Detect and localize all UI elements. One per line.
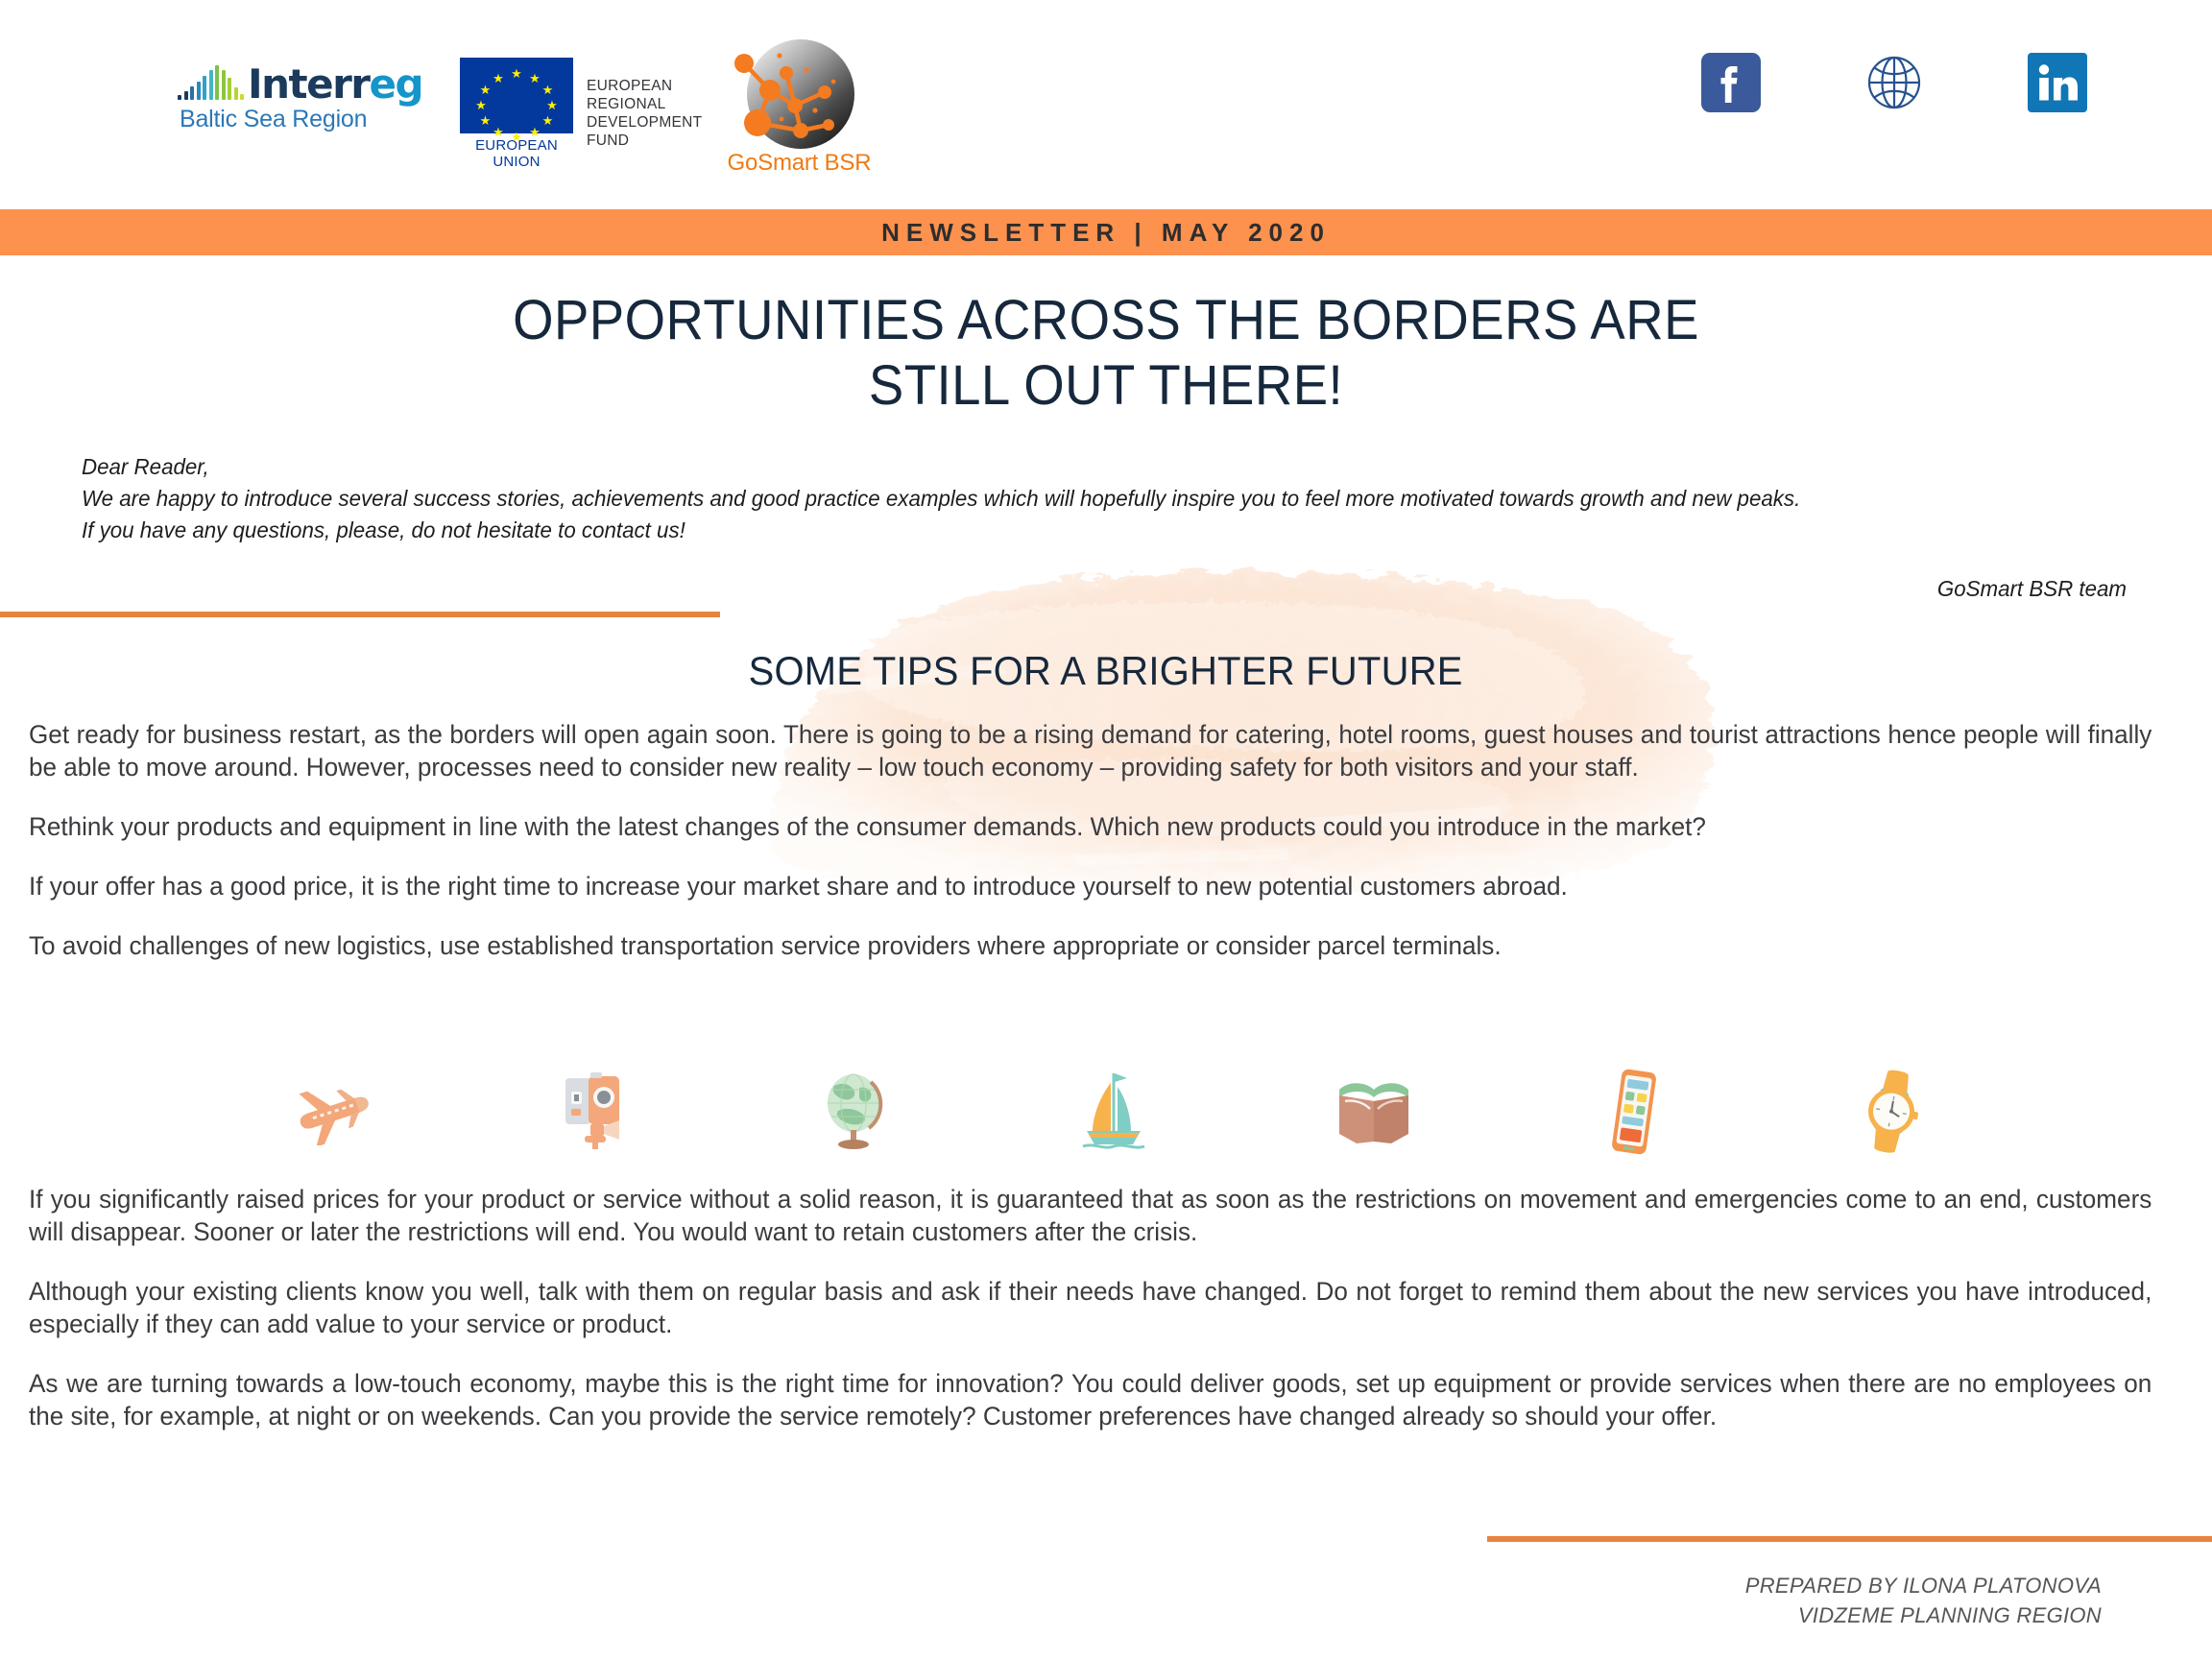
interreg-wordmark: Interreg: [248, 65, 422, 104]
eu-logo: ★ ★ ★ ★ ★ ★ ★ ★ ★ ★ ★ ★ EUROPEAN UNION: [460, 36, 702, 170]
erdf-line-1: EUROPEAN: [587, 77, 702, 95]
footer-prepared-by: PREPARED BY ILONA PLATONOVA: [1745, 1571, 2102, 1600]
facebook-icon[interactable]: [1701, 53, 1761, 112]
banner-text: NEWSLETTER | MAY 2020: [881, 218, 1331, 248]
page-title-line-2: STILL OUT THERE!: [66, 353, 2146, 419]
newsletter-page: Interreg Baltic Sea Region ★ ★ ★ ★ ★ ★ ★…: [0, 0, 2212, 1659]
newsletter-banner: NEWSLETTER | MAY 2020: [0, 209, 2212, 255]
social-links: [1701, 53, 2087, 112]
sailboat-icon: [1068, 1066, 1159, 1157]
section-heading-text: SOME TIPS FOR A BRIGHTER FUTURE: [749, 648, 1463, 694]
body-block-bottom: If you significantly raised prices for y…: [29, 1183, 2184, 1459]
intro-paragraph: We are happy to introduce several succes…: [82, 483, 2065, 515]
open-map-icon: [1328, 1066, 1419, 1157]
section-heading: SOME TIPS FOR A BRIGHTER FUTURE: [0, 648, 2212, 694]
divider-left: [0, 612, 720, 617]
intro-salutation: Dear Reader,: [82, 451, 2065, 483]
footer-organisation: VIDZEME PLANNING REGION: [1745, 1600, 2102, 1630]
divider-right: [1487, 1536, 2212, 1542]
erdf-text: EUROPEAN REGIONAL DEVELOPMENT FUND: [587, 58, 702, 150]
body-paragraph: Although your existing clients know you …: [29, 1275, 2152, 1340]
body-paragraph: To avoid challenges of new logistics, us…: [29, 929, 2152, 962]
wristwatch-icon: [1848, 1066, 1939, 1157]
page-footer: PREPARED BY ILONA PLATONOVA VIDZEME PLAN…: [1745, 1571, 2102, 1630]
gosmart-logo: GoSmart BSR: [727, 36, 871, 177]
erdf-line-4: FUND: [587, 132, 702, 150]
action-camera-icon: [548, 1066, 639, 1157]
body-paragraph: If your offer has a good price, it is th…: [29, 870, 2152, 902]
logo-group: Interreg Baltic Sea Region ★ ★ ★ ★ ★ ★ ★…: [178, 36, 871, 177]
page-header: Interreg Baltic Sea Region ★ ★ ★ ★ ★ ★ ★…: [0, 0, 2212, 206]
body-paragraph: If you significantly raised prices for y…: [29, 1183, 2152, 1248]
gosmart-label: GoSmart BSR: [727, 150, 871, 177]
erdf-line-3: DEVELOPMENT: [587, 113, 702, 132]
linkedin-icon[interactable]: [2028, 53, 2087, 112]
page-title-line-1: OPPORTUNITIES ACROSS THE BORDERS ARE: [66, 288, 2146, 353]
interreg-bars-icon: [178, 65, 244, 104]
mobile-phone-icon: [1588, 1066, 1679, 1157]
globe-stand-icon: [808, 1066, 900, 1157]
airplane-icon: [288, 1066, 379, 1157]
body-paragraph: As we are turning towards a low-touch ec…: [29, 1367, 2152, 1432]
body-block-top: Get ready for business restart, as the b…: [29, 718, 2184, 962]
interreg-logo: Interreg Baltic Sea Region: [178, 36, 418, 133]
body-paragraph: Get ready for business restart, as the b…: [29, 718, 2152, 783]
eu-flag-icon: ★ ★ ★ ★ ★ ★ ★ ★ ★ ★ ★ ★: [460, 58, 573, 133]
interreg-subtitle: Baltic Sea Region: [178, 106, 418, 133]
erdf-line-2: REGIONAL: [587, 95, 702, 113]
gosmart-sphere-icon: [732, 38, 866, 154]
intro-block: Dear Reader, We are happy to introduce s…: [82, 451, 2127, 605]
decorative-icon-row: [288, 1066, 1939, 1157]
globe-icon[interactable]: [1864, 53, 1924, 112]
intro-closing: If you have any questions, please, do no…: [82, 515, 2065, 546]
page-title: OPPORTUNITIES ACROSS THE BORDERS ARE STI…: [0, 288, 2212, 419]
intro-signoff: GoSmart BSR team: [143, 573, 2127, 605]
body-paragraph: Rethink your products and equipment in l…: [29, 810, 2152, 843]
